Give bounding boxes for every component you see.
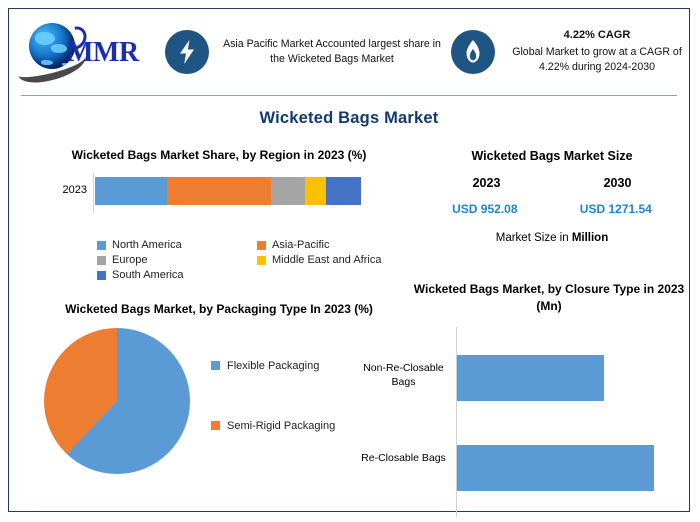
- region-legend-swatch: [97, 256, 106, 265]
- legend-swatch-flexible: [211, 361, 220, 370]
- cagr-headline: 4.22% CAGR: [505, 28, 689, 44]
- closure-type-row-non-reclosable: Non-Re-Closable Bags: [413, 355, 685, 401]
- pie-graphic: [44, 328, 190, 474]
- closure-type-title: Wicketed Bags Market, by Closure Type in…: [413, 281, 685, 315]
- region-share-category-label: 2023: [35, 184, 87, 196]
- closure-type-row-reclosable: Re-Closable Bags: [413, 445, 685, 491]
- region-legend-label: Asia-Pacific: [272, 239, 329, 251]
- header-card-cagr-text: 4.22% CAGR Global Market to grow at a CA…: [505, 28, 689, 76]
- market-size-unit-prefix: Market Size in: [496, 232, 572, 244]
- market-size-title: Wicketed Bags Market Size: [421, 149, 683, 163]
- region-share-stack: [95, 177, 361, 205]
- market-size-value-2030: USD 1271.54: [580, 202, 652, 216]
- region-segment-4: [326, 177, 361, 205]
- region-legend-swatch: [257, 256, 266, 265]
- closure-type-plot: Non-Re-Closable Bags Re-Closable Bags: [413, 327, 685, 517]
- region-segment-0: [95, 177, 167, 205]
- infographic-frame: MMR Asia Pacific Market Accounted larges…: [8, 8, 690, 512]
- region-segment-2: [271, 177, 306, 205]
- packaging-type-title: Wicketed Bags Market, by Packaging Type …: [21, 301, 417, 318]
- market-size-year-2023: 2023: [473, 176, 501, 190]
- region-share-title: Wicketed Bags Market Share, by Region in…: [21, 147, 417, 163]
- packaging-type-legend: Flexible Packaging Semi-Rigid Packaging: [211, 360, 335, 432]
- region-legend-swatch: [97, 241, 106, 250]
- brand-logo: MMR: [9, 9, 161, 95]
- brand-name: MMR: [67, 37, 139, 69]
- region-share-legend: North AmericaAsia-PacificEuropeMiddle Ea…: [97, 239, 417, 284]
- market-size-year-2030: 2030: [604, 176, 632, 190]
- closure-type-bar-non-reclosable: [457, 355, 604, 401]
- closure-type-bar-reclosable: [457, 445, 654, 491]
- region-legend-item: Middle East and Africa: [257, 254, 417, 266]
- closure-type-label-non-reclosable: Non-Re-Closable Bags: [356, 361, 451, 389]
- closure-type-label-reclosable: Re-Closable Bags: [356, 451, 451, 465]
- header-card-cagr: 4.22% CAGR Global Market to grow at a CA…: [445, 9, 689, 95]
- legend-swatch-semi-rigid: [211, 421, 220, 430]
- legend-label-semi-rigid: Semi-Rigid Packaging: [227, 420, 335, 432]
- region-segment-1: [167, 177, 271, 205]
- legend-label-flexible: Flexible Packaging: [227, 360, 319, 372]
- market-size-unit-note: Market Size in Million: [421, 232, 683, 244]
- flame-icon: [451, 30, 495, 74]
- market-size-value-2023: USD 952.08: [452, 202, 517, 216]
- market-size-values: USD 952.08 USD 1271.54: [421, 202, 683, 216]
- market-size-years: 2023 2030: [421, 176, 683, 190]
- region-legend-item: Asia-Pacific: [257, 239, 417, 251]
- page-title: Wicketed Bags Market: [9, 109, 689, 128]
- region-legend-item: North America: [97, 239, 257, 251]
- cagr-description: Global Market to grow at a CAGR of 4.22%…: [512, 46, 682, 73]
- header: MMR Asia Pacific Market Accounted larges…: [9, 9, 689, 95]
- region-legend-item: Europe: [97, 254, 257, 266]
- region-share-plot: 2023: [21, 173, 417, 213]
- region-legend-swatch: [257, 241, 266, 250]
- market-size-unit: Million: [572, 232, 608, 244]
- region-legend-label: Middle East and Africa: [272, 254, 381, 266]
- legend-item-flexible: Flexible Packaging: [211, 360, 335, 372]
- region-segment-3: [305, 177, 326, 205]
- region-legend-label: North America: [112, 239, 182, 251]
- region-legend-swatch: [97, 271, 106, 280]
- header-divider: [21, 95, 677, 96]
- region-share-axis: [93, 173, 94, 213]
- region-legend-item: South America: [97, 269, 257, 281]
- legend-item-semi-rigid: Semi-Rigid Packaging: [211, 420, 335, 432]
- lightning-bolt-icon: [165, 30, 209, 74]
- header-card-region: Asia Pacific Market Accounted largest sh…: [161, 9, 445, 95]
- header-card-region-text: Asia Pacific Market Accounted largest sh…: [219, 37, 445, 68]
- region-legend-label: South America: [112, 269, 184, 281]
- market-size-panel: Wicketed Bags Market Size 2023 2030 USD …: [421, 149, 683, 244]
- region-legend-label: Europe: [112, 254, 147, 266]
- region-share-chart: Wicketed Bags Market Share, by Region in…: [21, 147, 417, 213]
- closure-type-chart: Wicketed Bags Market, by Closure Type in…: [413, 281, 685, 517]
